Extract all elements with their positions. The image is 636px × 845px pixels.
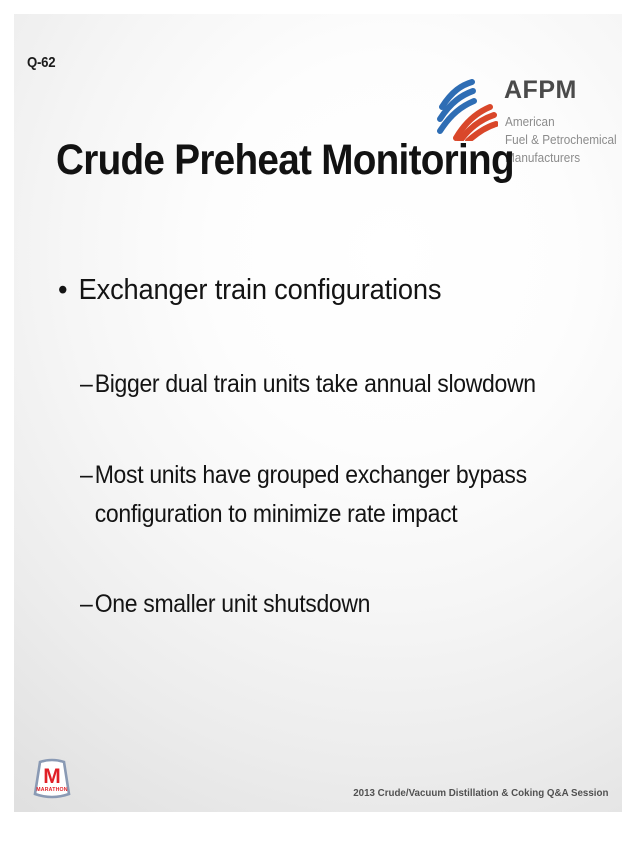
bullet-marker-dash: – (80, 585, 95, 624)
footer-session-label: 2013 Crude/Vacuum Distillation & Coking … (353, 787, 608, 799)
slide-canvas: Q-62 AFPM American Fuel & Petrochemical … (14, 14, 622, 812)
svg-text:M: M (43, 765, 61, 788)
afpm-tagline: American Fuel & Petrochemical Manufactur… (505, 113, 617, 167)
bullet-level2-one-smaller-unit: –One smaller unit shutsdown (80, 585, 579, 624)
afpm-tagline-line-1: American (505, 113, 617, 131)
body-spacer (14, 307, 622, 365)
svg-text:MARATHON: MARATHON (36, 787, 68, 793)
body-spacer (14, 404, 622, 456)
bullet-text: One smaller unit shutsdown (95, 590, 370, 618)
afpm-wordmark: AFPM (504, 78, 577, 103)
bullet-level2-bigger-dual-train: –Bigger dual train units take annual slo… (80, 365, 579, 404)
bullet-marker-dot: • (58, 274, 79, 307)
afpm-tagline-line-2: Fuel & Petrochemical (505, 131, 617, 149)
bullet-text: Bigger dual train units take annual slow… (95, 370, 536, 398)
page-title: Crude Preheat Monitoring (56, 136, 514, 185)
slide-body: •Exchanger train configurations –Bigger … (14, 274, 622, 624)
body-spacer (14, 533, 622, 585)
afpm-tagline-line-3: Manufacturers (505, 149, 617, 167)
bullet-text: Exchanger train configurations (79, 274, 442, 306)
marathon-logo: M MARATHON (29, 756, 75, 802)
bullet-marker-dash: – (80, 365, 95, 404)
bullet-marker-dash: – (80, 456, 95, 495)
afpm-swoosh-icon (432, 79, 498, 141)
slide-number: Q-62 (27, 54, 55, 71)
bullet-level1-exchanger-train: •Exchanger train configurations (58, 274, 588, 307)
bullet-text: Most units have grouped exchanger bypass (95, 461, 527, 489)
bullet-level2-grouped-exchanger-bypass: –Most units have grouped exchanger bypas… (80, 456, 579, 534)
bullet-text-continuation: configuration to minimize rate impact (95, 495, 579, 534)
